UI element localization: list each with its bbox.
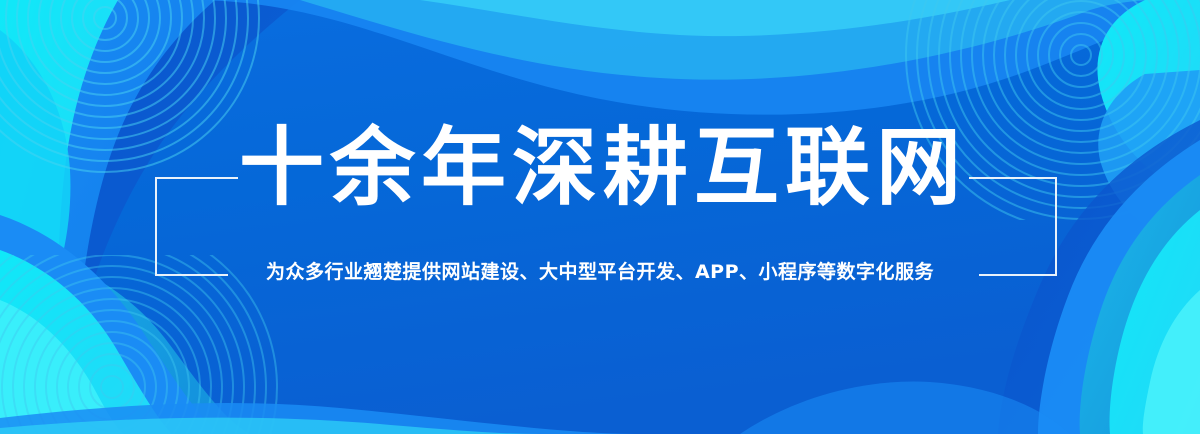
hero-banner: 十余年深耕互联网 为众多行业翘楚提供网站建设、大中型平台开发、APP、小程序等数…	[0, 0, 1200, 434]
banner-content: 十余年深耕互联网 为众多行业翘楚提供网站建设、大中型平台开发、APP、小程序等数…	[0, 0, 1200, 434]
banner-subtitle: 为众多行业翘楚提供网站建设、大中型平台开发、APP、小程序等数字化服务	[0, 258, 1200, 286]
banner-headline: 十余年深耕互联网	[0, 118, 1200, 218]
